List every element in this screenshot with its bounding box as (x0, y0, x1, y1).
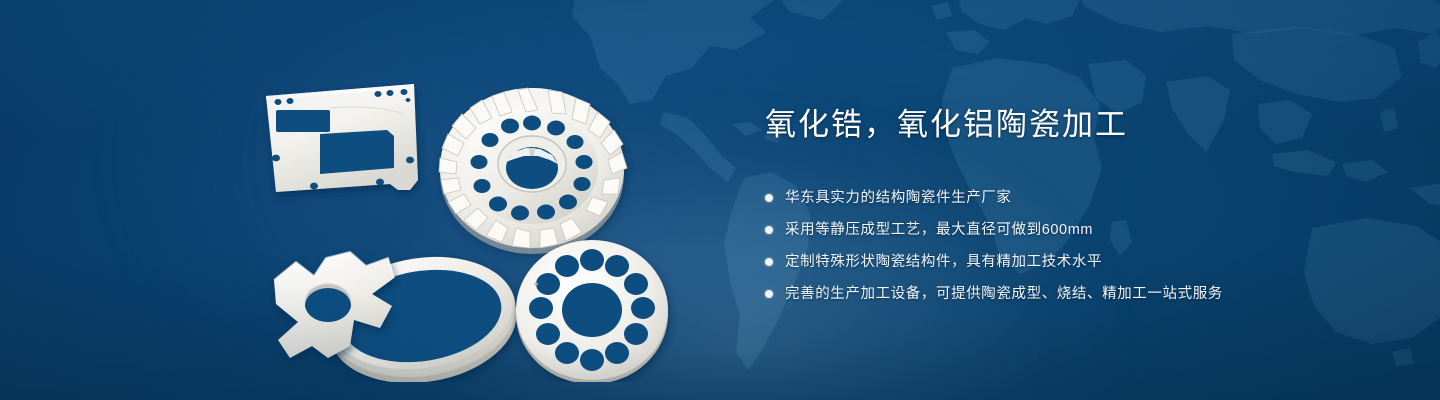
feature-label: 采用等静压成型工艺，最大直径可做到600mm (785, 223, 1093, 238)
ceramic-products-photo (232, 38, 718, 382)
hero-banner: 氧化锆，氧化铝陶瓷加工 华东具实力的结构陶瓷件生产厂家 采用等静压成型工艺，最大… (0, 0, 1440, 400)
bullet-dot-icon (765, 226, 773, 234)
banner-copy: 氧化锆，氧化铝陶瓷加工 华东具实力的结构陶瓷件生产厂家 采用等静压成型工艺，最大… (765, 106, 1385, 306)
bullet-dot-icon (765, 290, 773, 298)
ceramic-perforated-disc (516, 240, 668, 382)
page-title: 氧化锆，氧化铝陶瓷加工 (765, 106, 1385, 145)
list-item: 采用等静压成型工艺，最大直径可做到600mm (765, 219, 1385, 242)
list-item: 完善的生产加工设备，可提供陶瓷成型、烧结、精加工一站式服务 (765, 283, 1385, 306)
feature-label: 完善的生产加工设备，可提供陶瓷成型、烧结、精加工一站式服务 (785, 287, 1223, 302)
bullet-dot-icon (765, 194, 773, 202)
ceramic-impeller-rotor (439, 88, 627, 254)
ceramic-mounting-plate (266, 84, 418, 192)
list-item: 定制特殊形状陶瓷结构件，具有精加工技术水平 (765, 251, 1385, 274)
feature-label: 定制特殊形状陶瓷结构件，具有精加工技术水平 (785, 255, 1102, 270)
bullet-dot-icon (765, 258, 773, 266)
list-item: 华东具实力的结构陶瓷件生产厂家 (765, 187, 1385, 210)
feature-list: 华东具实力的结构陶瓷件生产厂家 采用等静压成型工艺，最大直径可做到600mm 定… (765, 187, 1385, 306)
feature-label: 华东具实力的结构陶瓷件生产厂家 (785, 191, 1012, 206)
